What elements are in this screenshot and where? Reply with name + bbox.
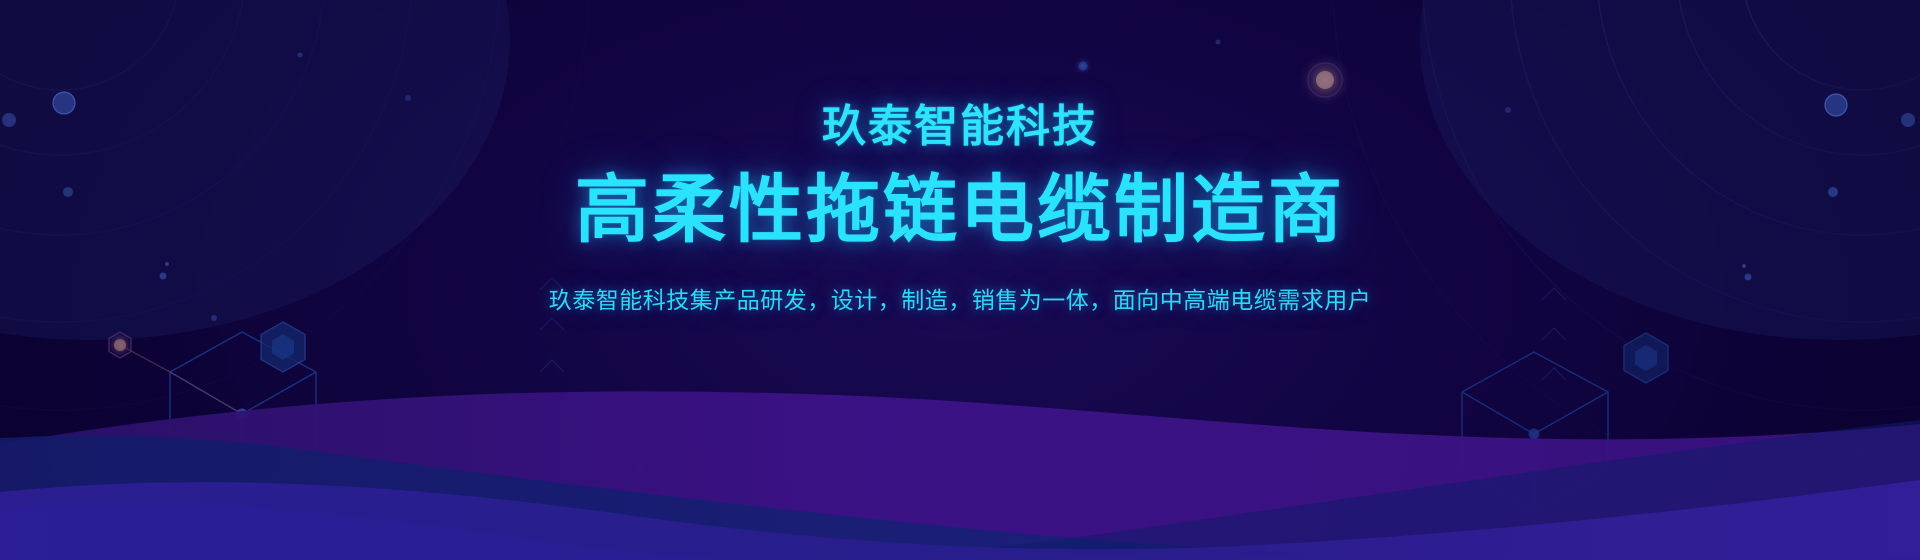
banner-eyebrow: 玖泰智能科技 (822, 104, 1098, 150)
banner-subtitle: 玖泰智能科技集产品研发，设计，制造，销售为一体，面向中高端电缆需求用户 (549, 283, 1372, 318)
hero-banner: 玖泰智能科技 高柔性拖链电缆制造商 玖泰智能科技集产品研发，设计，制造，销售为一… (0, 0, 1920, 560)
banner-content: 玖泰智能科技 高柔性拖链电缆制造商 玖泰智能科技集产品研发，设计，制造，销售为一… (0, 0, 1920, 560)
banner-headline: 高柔性拖链电缆制造商 (575, 172, 1345, 249)
